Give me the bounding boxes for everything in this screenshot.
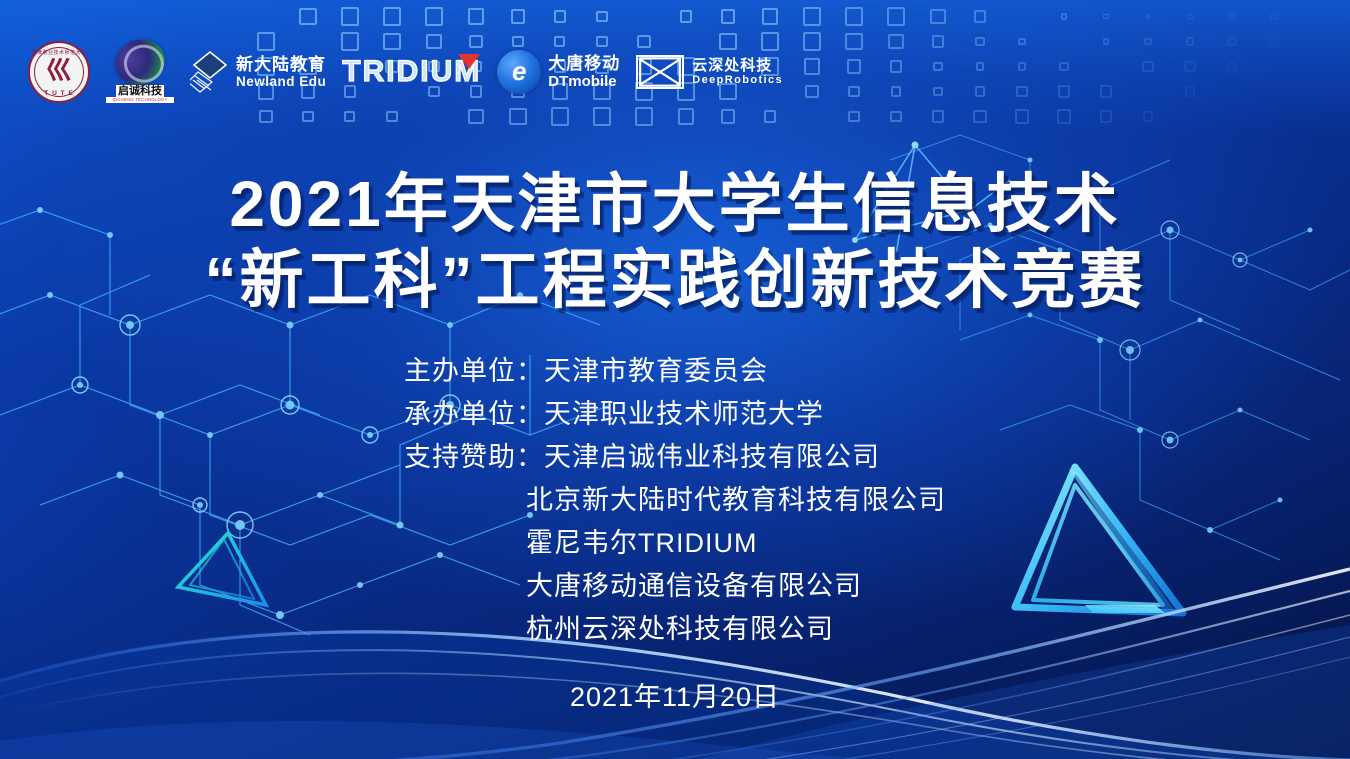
date-block: 2021年11月20日 (0, 677, 1350, 717)
grid-square (1058, 85, 1071, 98)
grid-square (1185, 86, 1195, 96)
title-line-1: 2021年天津市大学生信息技术 (0, 166, 1350, 242)
logo-tute: 天津职业技术师范大学 巛 T U T E (28, 36, 90, 108)
newland-name-en: Newland Edu (236, 74, 326, 89)
sponsor-item: 杭州云深处科技有限公司 (404, 608, 946, 651)
logo-dtmobile: e 大唐移动 DTmobile (497, 36, 620, 108)
sponsor-item: 霍尼韦尔TRIDIUM (404, 522, 946, 565)
grid-square (887, 7, 905, 25)
grid-square (1229, 13, 1235, 19)
qicheng-lockup: 启诚科技 QICHENG TECHNOLOGY (106, 38, 174, 106)
grid-square (930, 9, 946, 25)
grid-square (845, 33, 863, 51)
grid-square (848, 86, 860, 98)
grid-square (1018, 38, 1025, 45)
grid-square (1146, 14, 1151, 19)
qicheng-globe-icon (109, 32, 172, 92)
grid-square (1187, 14, 1192, 19)
grid-square (1227, 62, 1237, 72)
grid-square (1184, 61, 1195, 72)
dtmobile-circle-icon: e (497, 50, 541, 94)
newland-name-cn: 新大陆教育 (236, 55, 326, 74)
sponsor-item: 北京新大陆时代教育科技有限公司 (404, 479, 946, 522)
dtmobile-text-block: 大唐移动 DTmobile (548, 54, 620, 90)
grid-square (551, 107, 570, 126)
grid-square (890, 60, 902, 72)
dtmobile-name-cn: 大唐移动 (548, 54, 620, 73)
poster-title: 2021年天津市大学生信息技术 “新工科”工程实践创新技术竞赛 (0, 166, 1350, 318)
poster-canvas: 天津职业技术师范大学 巛 T U T E 启诚科技 QICHENG TECHNO… (0, 0, 1350, 759)
grid-square (1186, 37, 1195, 46)
grid-square (468, 8, 485, 25)
grid-square (1100, 85, 1113, 98)
grid-square (596, 11, 607, 22)
sponsor-logo-bar: 天津职业技术师范大学 巛 T U T E 启诚科技 QICHENG TECHNO… (28, 36, 799, 108)
grid-square (888, 34, 904, 50)
grid-square (299, 8, 316, 25)
grid-square (554, 10, 566, 22)
grid-square (425, 7, 443, 25)
grid-square (847, 59, 862, 74)
logo-deeprobotics: 云深处科技 DeepRobotics (636, 36, 783, 108)
grid-square (511, 9, 525, 23)
sponsor-row: 支持赞助：天津启诚伟业科技有限公司 (404, 436, 946, 479)
grid-square (721, 9, 735, 23)
host-row: 承办单位：天津职业技术师范大学 (404, 393, 946, 436)
grid-square (976, 62, 984, 70)
seal-top-text: 天津职业技术师范大学 (30, 49, 88, 56)
qicheng-subname: QICHENG TECHNOLOGY (106, 97, 174, 103)
deeprobotics-text-block: 云深处科技 DeepRobotics (692, 57, 783, 87)
grid-square (1270, 13, 1277, 20)
grid-square (635, 107, 653, 125)
newland-text-block: 新大陆教育 Newland Edu (236, 55, 326, 89)
grid-square (933, 62, 943, 72)
sponsor-item: 大唐移动通信设备有限公司 (404, 565, 946, 608)
deeprobotics-name-en: DeepRobotics (692, 74, 783, 87)
tute-seal-icon: 天津职业技术师范大学 巛 T U T E (28, 41, 90, 103)
grid-square (344, 111, 355, 122)
grid-square (383, 7, 402, 26)
grid-square (933, 87, 943, 97)
title-line-2: “新工科”工程实践创新技术竞赛 (0, 242, 1350, 318)
dtmobile-lockup: e 大唐移动 DTmobile (497, 50, 620, 94)
poster-body: 主办单位：天津市教育委员会 承办单位：天津职业技术师范大学 支持赞助：天津启诚伟… (0, 350, 1350, 717)
grid-square (803, 7, 821, 25)
grid-square (845, 7, 864, 26)
grid-square (1103, 38, 1110, 45)
grid-square (1144, 38, 1152, 46)
event-date: 2021年11月20日 (570, 682, 780, 712)
grid-square (1059, 62, 1068, 71)
newland-diamond-icon (190, 50, 230, 94)
grid-square (259, 110, 272, 123)
grid-square (593, 107, 612, 126)
grid-square (932, 35, 944, 47)
grid-square (341, 7, 360, 26)
qicheng-name: 启诚科技 (116, 85, 164, 97)
grid-square (721, 109, 735, 123)
grid-square (764, 110, 776, 122)
grid-square (891, 86, 901, 96)
grid-square (974, 10, 987, 23)
organizer-block: 主办单位：天津市教育委员会 承办单位：天津职业技术师范大学 支持赞助：天津启诚伟… (0, 350, 1350, 651)
deeprobotics-lockup: 云深处科技 DeepRobotics (636, 55, 783, 89)
seal-latin-text: T U T E (30, 90, 88, 97)
tridium-lockup: TRIDIUM (342, 56, 481, 88)
grid-square (1061, 13, 1068, 20)
grid-square (975, 86, 985, 96)
deeprobotics-name-cn: 云深处科技 (692, 57, 783, 74)
grid-square (1269, 37, 1278, 46)
grid-square (1227, 37, 1236, 46)
grid-square (468, 109, 483, 124)
grid-square (509, 108, 526, 125)
logo-tridium: TRIDIUM (342, 36, 481, 108)
grid-square (975, 37, 984, 46)
grid-square (805, 85, 818, 98)
grid-square (803, 32, 822, 51)
grid-square (1142, 61, 1153, 72)
grid-square (678, 108, 694, 124)
grid-square (386, 111, 398, 123)
deeprobotics-envelope-icon (636, 55, 684, 89)
logo-newland: 新大陆教育 Newland Edu (190, 36, 326, 108)
grid-square (762, 8, 778, 24)
grid-square (680, 10, 692, 22)
tridium-triangle-icon (458, 54, 480, 69)
dtmobile-name-en: DTmobile (548, 73, 620, 90)
dtmobile-glyph: e (512, 58, 526, 84)
newland-lockup: 新大陆教育 Newland Edu (190, 50, 326, 94)
grid-square (1018, 62, 1026, 70)
grid-square (804, 58, 821, 75)
grid-square (1103, 14, 1108, 19)
logo-qicheng: 启诚科技 QICHENG TECHNOLOGY (106, 36, 174, 108)
grid-square (302, 111, 314, 123)
organizer-row: 主办单位：天津市教育委员会 (404, 350, 946, 393)
grid-square (1016, 86, 1027, 97)
